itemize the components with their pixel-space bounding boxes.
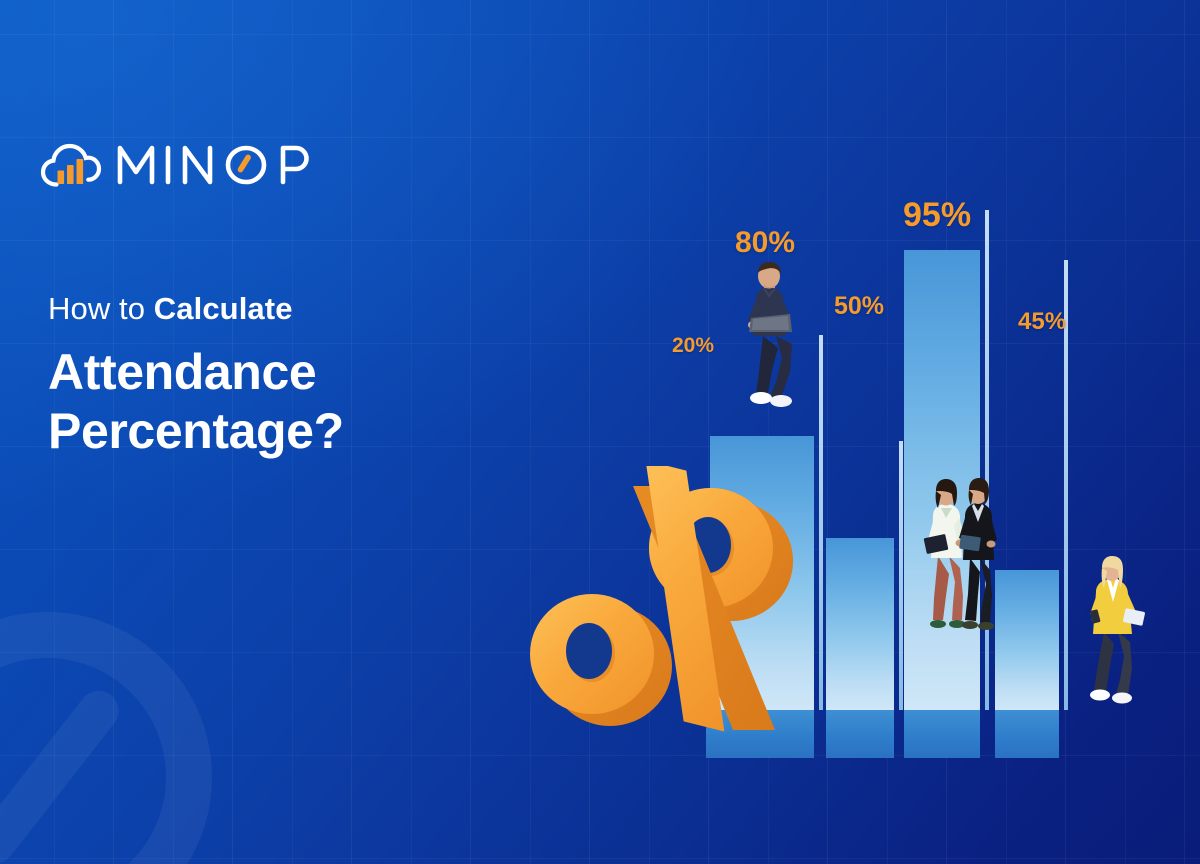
bar-label-45: 45% bbox=[1018, 308, 1066, 336]
brand-wordmark bbox=[115, 140, 347, 188]
headline-normal-text: How to bbox=[48, 291, 154, 326]
bar-45-face bbox=[995, 710, 1059, 758]
headline-line-1: How to Calculate bbox=[48, 290, 568, 329]
bar-50 bbox=[826, 538, 894, 710]
brand-logo[interactable] bbox=[40, 140, 347, 188]
bar-50-body bbox=[826, 538, 894, 710]
bar-80-hairline bbox=[819, 335, 823, 710]
woman-with-phone bbox=[1076, 556, 1154, 708]
bar-95-face bbox=[904, 710, 980, 758]
bar-label-80: 80% bbox=[735, 226, 795, 260]
headline-block: How to Calculate Attendance Percentage? bbox=[48, 290, 568, 461]
percent-symbol-3d bbox=[518, 466, 808, 741]
man-with-laptop bbox=[726, 262, 812, 412]
headline-bold-text: Calculate bbox=[154, 291, 293, 326]
headline-word-percentage: Percentage? bbox=[48, 402, 568, 461]
cloud-bar-chart-icon bbox=[40, 140, 102, 188]
two-women-talking bbox=[908, 478, 1004, 638]
headline-line-2: Attendance Percentage? bbox=[48, 343, 568, 461]
bar-label-50: 50% bbox=[834, 292, 884, 321]
poster-canvas: How to Calculate Attendance Percentage? … bbox=[0, 0, 1200, 864]
bar-label-95: 95% bbox=[903, 196, 971, 235]
bar-50-face bbox=[826, 710, 894, 758]
minop-o-watermark-icon bbox=[0, 612, 212, 864]
bar-45-body bbox=[995, 570, 1059, 710]
bar-label-20: 20% bbox=[672, 334, 714, 358]
headline-word-attendance: Attendance bbox=[48, 343, 568, 402]
bar-50-hairline bbox=[899, 441, 903, 710]
bar-45 bbox=[995, 570, 1059, 710]
